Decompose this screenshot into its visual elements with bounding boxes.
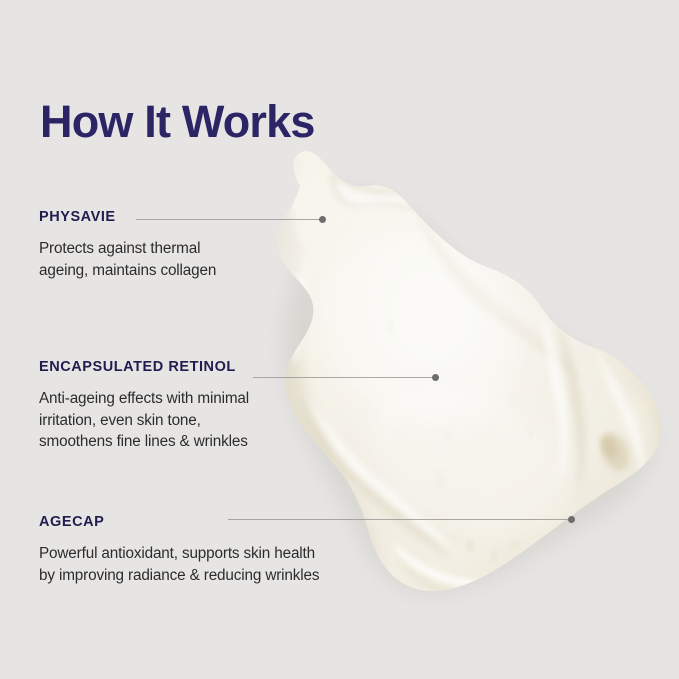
page-title: How It Works xyxy=(40,98,315,145)
connector-dot-encapsulated-retinol xyxy=(432,374,439,381)
connector-dot-agecap xyxy=(568,516,575,523)
callout-heading-agecap: AGECAP xyxy=(39,515,319,531)
how-it-works-infographic: How It Works PHYSAVIE Protects against t… xyxy=(0,0,679,679)
callout-heading-physavie: PHYSAVIE xyxy=(39,210,216,226)
connector-dot-physavie xyxy=(319,216,326,223)
callout-body-physavie: Protects against thermal ageing, maintai… xyxy=(39,238,216,281)
callout-heading-encapsulated-retinol: ENCAPSULATED RETINOL xyxy=(39,360,249,376)
callout-encapsulated-retinol: ENCAPSULATED RETINOL Anti-ageing effects… xyxy=(39,360,249,453)
connector-line-encapsulated-retinol xyxy=(253,377,435,378)
callout-body-encapsulated-retinol: Anti-ageing effects with minimal irritat… xyxy=(39,388,249,453)
callout-physavie: PHYSAVIE Protects against thermal ageing… xyxy=(39,210,216,281)
callout-agecap: AGECAP Powerful antioxidant, supports sk… xyxy=(39,515,319,586)
callout-body-agecap: Powerful antioxidant, supports skin heal… xyxy=(39,543,319,586)
